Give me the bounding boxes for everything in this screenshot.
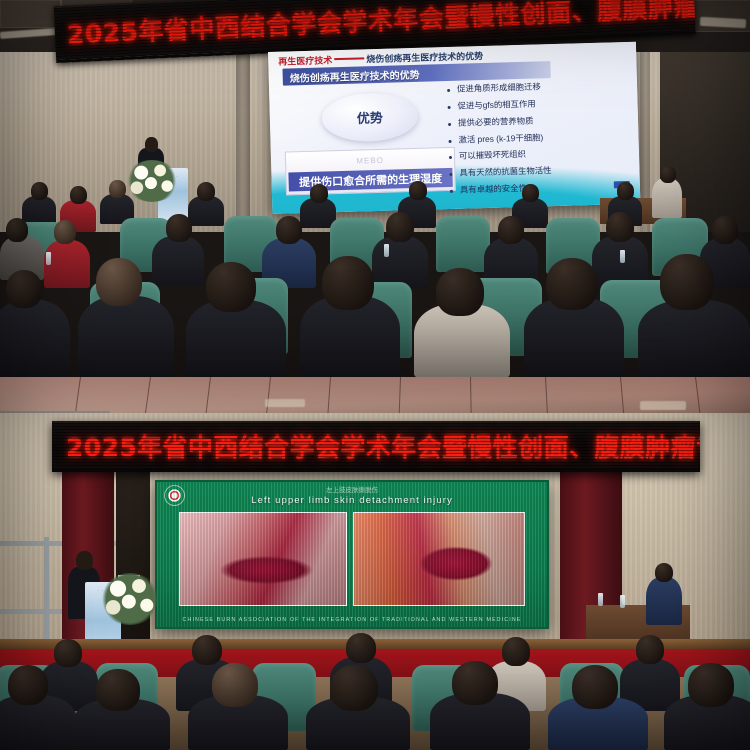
bullet-text: 可以摧毁坏死组织	[459, 150, 526, 162]
photo-overlay	[180, 513, 346, 605]
slide-footer-text: CHINESE BURN ASSOCIATION OF THE INTEGRAT…	[157, 617, 547, 623]
top-podium-flowers	[125, 160, 179, 202]
photo-overlay	[354, 513, 524, 605]
bullet-text: 促进角质形成细胞迁移	[457, 82, 541, 94]
slide-chinese-title: 左上肢皮肤撕脱伤	[157, 484, 547, 494]
bullet-text: 激活 pres (k-19干细胞)	[458, 133, 543, 145]
top-operator-head	[660, 166, 676, 183]
bullet-dot-icon	[447, 89, 450, 92]
projection-screen-bottom: 左上肢皮肤撕脱伤 Left upper limb skin detachment…	[155, 480, 549, 629]
bottom-speaker-head	[76, 551, 93, 570]
list-item: 提供必要的营养物质	[448, 114, 628, 129]
top-conference-photo: 2025年省中西结合学会学术年会暨慢性创面、腹膜肿瘤专题论坛 再生医疗技术烧伤创…	[0, 0, 750, 377]
led-banner-bottom: 2025年省中西结合学会学术年会暨慢性创面、腹膜肿瘤专题论坛	[52, 421, 700, 472]
slide-bullet-list: 促进角质形成细胞迁移 促进与gfs的相互作用 提供必要的营养物质 激活 pres…	[447, 80, 630, 203]
bullet-dot-icon	[449, 173, 452, 176]
bottom-podium-flowers	[100, 573, 160, 625]
slide-advantage-label: 优势	[322, 106, 418, 128]
list-item: 具有天然的抗菌生物活性	[449, 164, 629, 179]
led-banner-bottom-text: 2025年省中西结合学会学术年会暨慢性创面、腹膜肿瘤专题论坛	[66, 428, 700, 464]
slide-box-watermark: MEBO	[286, 154, 454, 168]
title-rule	[334, 57, 364, 60]
surgical-photo-right	[353, 512, 525, 606]
top-operator-body	[652, 178, 682, 218]
list-item: 具有卓越的安全性	[450, 181, 630, 196]
composite-photo: 2025年省中西结合学会学术年会暨慢性创面、腹膜肿瘤专题论坛 再生医疗技术烧伤创…	[0, 0, 750, 750]
bottom-conference-photo: 2025年省中西结合学会学术年会暨慢性创面、腹膜肿瘤专题论坛 左上肢皮肤撕脱伤 …	[0, 377, 750, 750]
bullet-text: 促进与gfs的相互作用	[457, 99, 535, 111]
slide-english-title: Left upper limb skin detachment injury	[157, 495, 547, 506]
bullet-dot-icon	[448, 106, 451, 109]
bottom-seated-person-body	[646, 577, 682, 625]
bullet-dot-icon	[449, 156, 452, 159]
list-item: 可以摧毁坏死组织	[449, 147, 629, 162]
bottom-seated-person-head	[655, 563, 673, 582]
bullet-text: 提供必要的营养物质	[458, 116, 534, 128]
slide-title-sub: 烧伤创疡再生医疗技术的优势	[366, 51, 483, 64]
bullet-dot-icon	[449, 139, 452, 142]
bullet-dot-icon	[448, 123, 451, 126]
surgical-photo-left	[179, 512, 347, 606]
bullet-text: 具有卓越的安全性	[460, 184, 527, 196]
list-item: 激活 pres (k-19干细胞)	[448, 131, 628, 146]
bullet-text: 具有天然的抗菌生物活性	[459, 166, 551, 178]
bullet-dot-icon	[450, 190, 453, 193]
slide-heading-text: 烧伤创疡再生医疗技术的优势	[289, 66, 419, 85]
list-item: 促进与gfs的相互作用	[447, 97, 627, 112]
top-speaker-head	[145, 137, 158, 152]
slide-title-main: 再生医疗技术	[278, 55, 332, 67]
